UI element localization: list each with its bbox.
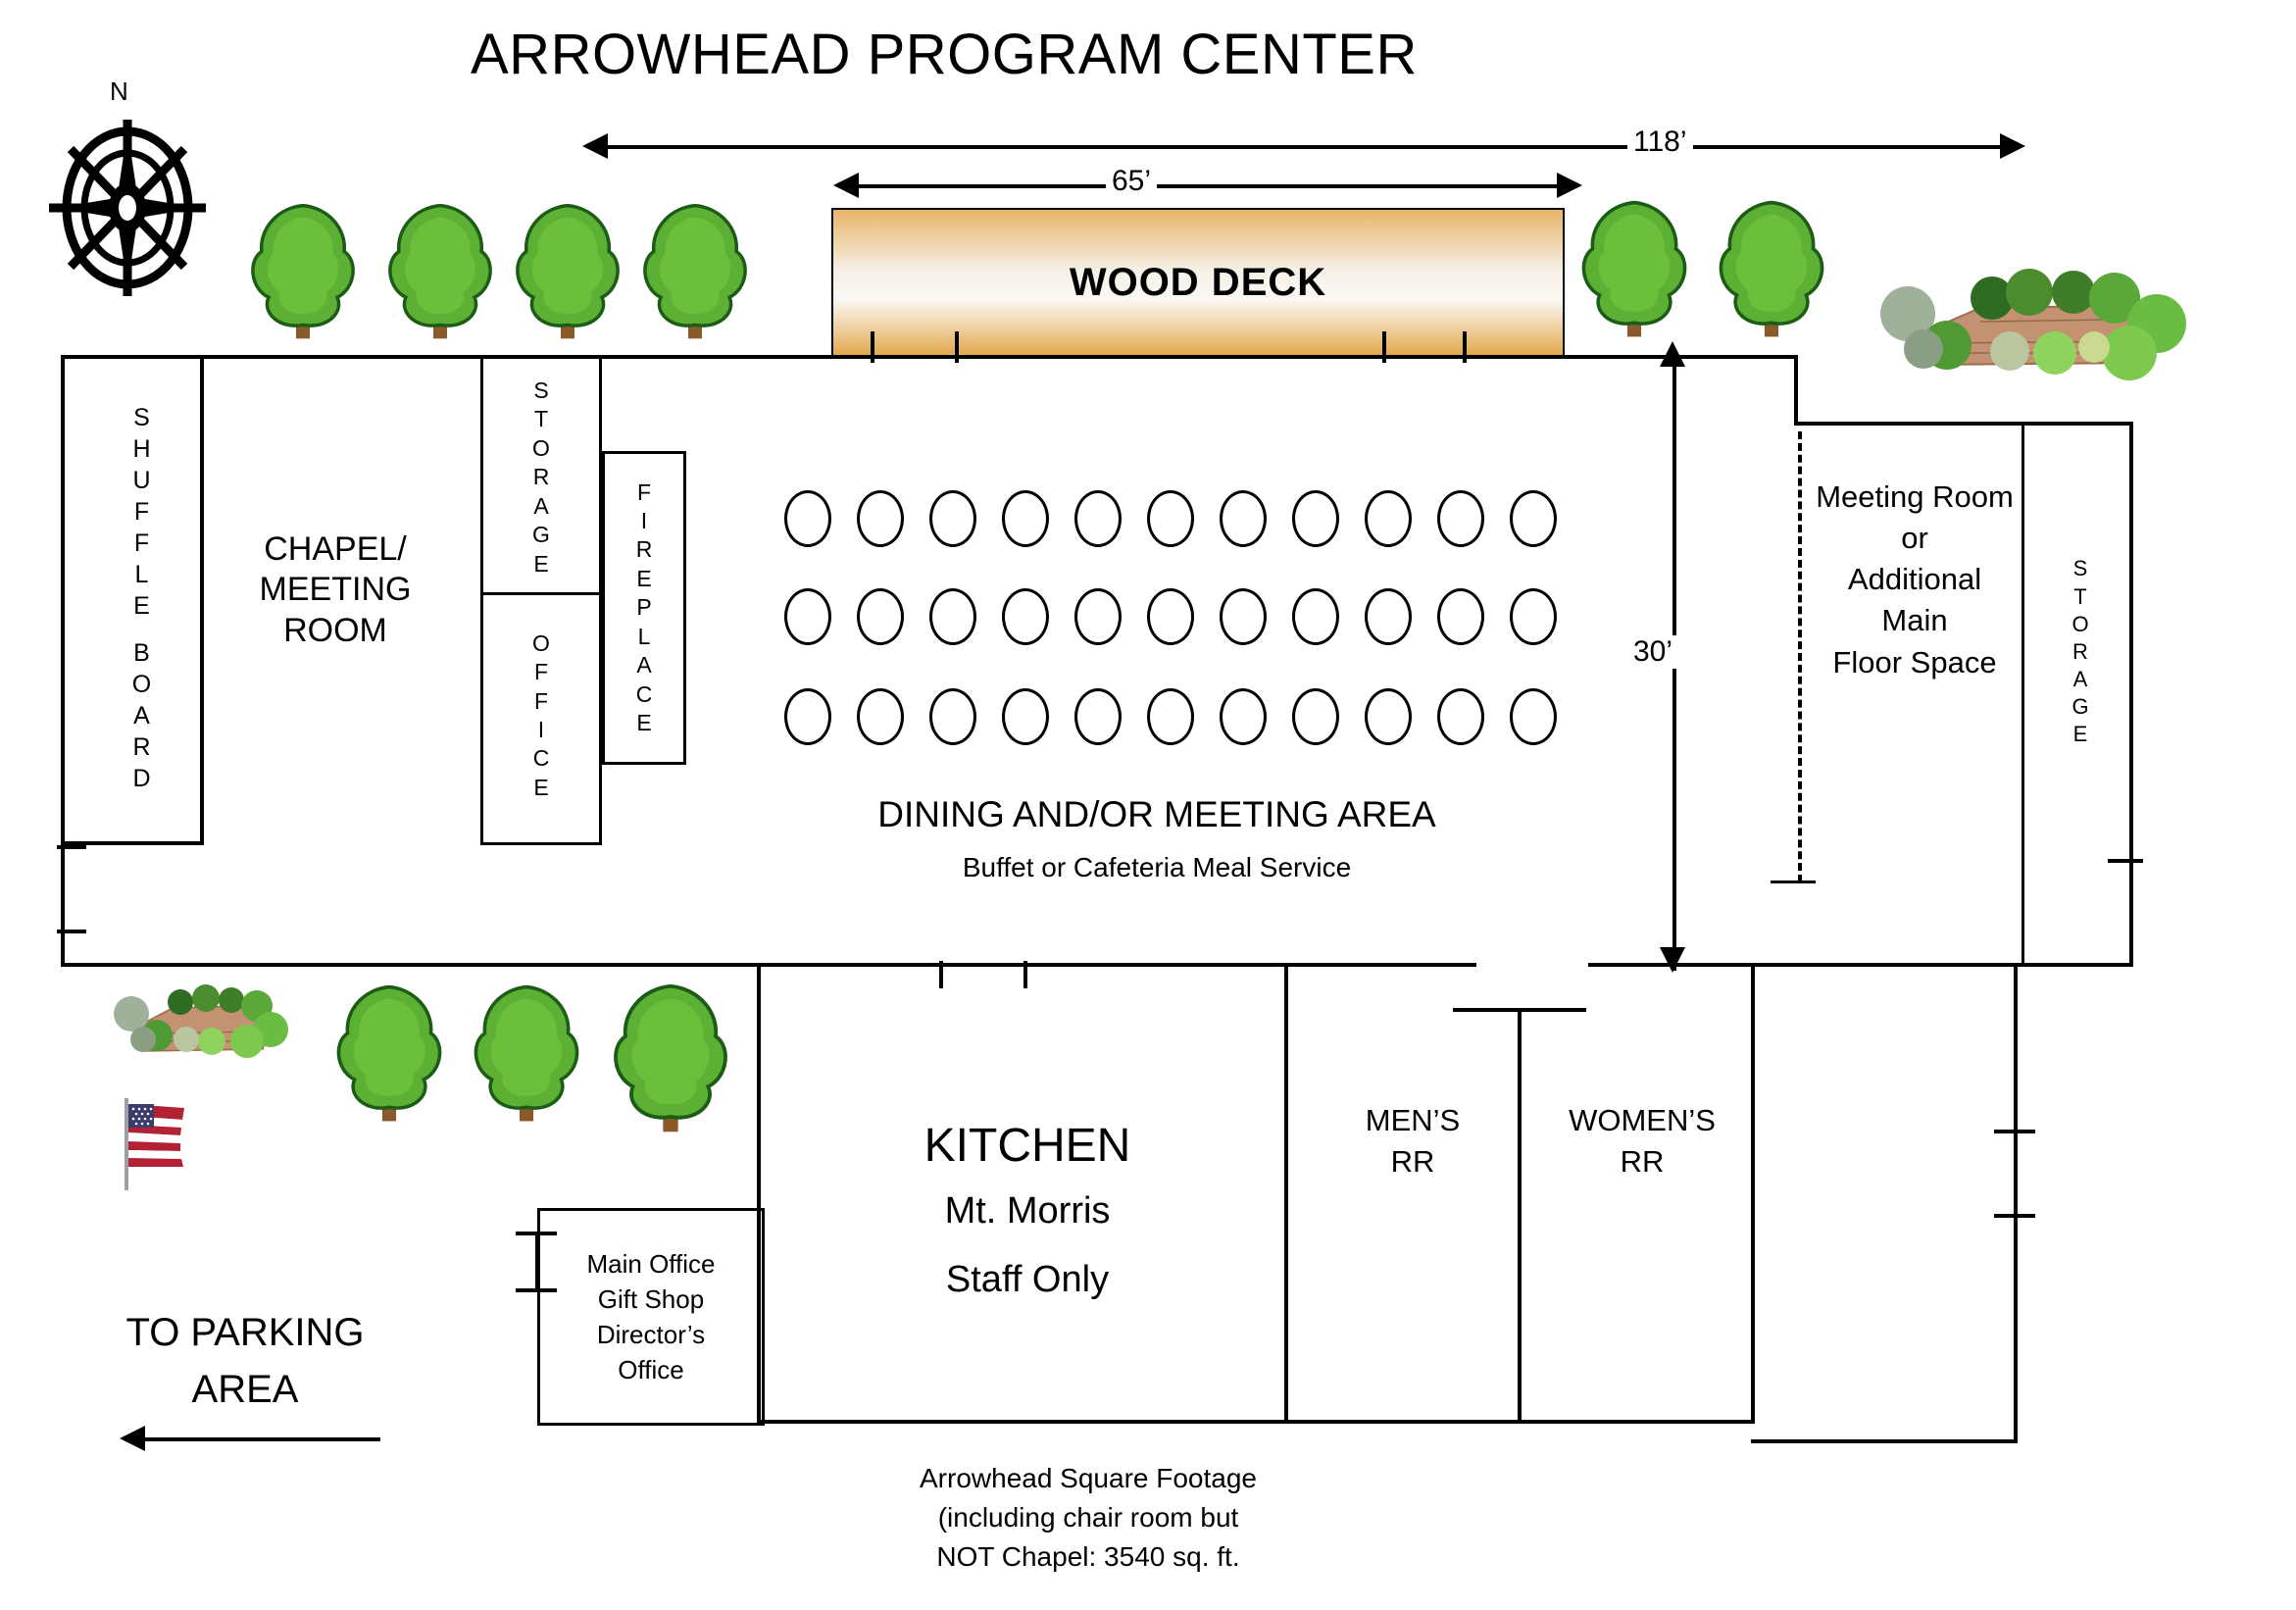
chapel-label: CHAPEL/ MEETING ROOM xyxy=(227,529,443,651)
kitchen-label: KITCHEN xyxy=(822,1118,1233,1176)
dining-table xyxy=(857,490,904,547)
compass-north-label: N xyxy=(110,76,128,107)
shrub-bed-icon xyxy=(108,981,284,1069)
dining-table xyxy=(1365,588,1412,645)
us-flag-icon xyxy=(120,1096,194,1190)
dining-table xyxy=(1002,588,1049,645)
lower-wing-bottom-wall xyxy=(757,1420,1755,1424)
dining-table xyxy=(1365,688,1412,745)
building-top-wall xyxy=(61,355,1798,359)
overall-width-label: 118’ xyxy=(1627,126,1693,159)
tree-icon xyxy=(1576,196,1692,343)
tree-icon xyxy=(1714,196,1829,343)
tree-icon xyxy=(382,201,498,343)
dining-table xyxy=(857,688,904,745)
tree-icon xyxy=(245,201,361,343)
dining-table xyxy=(1437,688,1484,745)
east-lower-right-wall xyxy=(2014,967,2018,1443)
door-tick xyxy=(955,331,959,363)
fireplace-label: FIREPLACE xyxy=(616,463,673,753)
dining-table xyxy=(1074,588,1122,645)
door-tick xyxy=(871,331,874,363)
restroom-divider-wall xyxy=(1518,1012,1522,1424)
meeting-room-right-label: Meeting Room or Additional Main Floor Sp… xyxy=(1812,477,2018,683)
dining-table xyxy=(1292,688,1339,745)
mens-rr-label: MEN’S RR xyxy=(1320,1100,1506,1182)
womens-rr-label: WOMEN’S RR xyxy=(1539,1100,1745,1182)
deck-dimension-arrow-left xyxy=(833,173,859,198)
deck-width-label: 65’ xyxy=(1106,165,1157,198)
tree-icon xyxy=(510,201,625,343)
overall-width-dimension-line xyxy=(608,145,2000,149)
door-tick xyxy=(57,930,86,933)
tree-icon xyxy=(469,981,584,1128)
tree-icon xyxy=(608,981,733,1137)
tree-icon xyxy=(331,981,447,1128)
building-bottom-wall-right xyxy=(1588,963,2133,967)
dining-area-label: DINING AND/OR MEETING AREA xyxy=(804,792,1510,836)
shuffleboard-label: SHUFFLE BOARD xyxy=(108,382,176,814)
to-parking-arrow-line xyxy=(145,1437,380,1441)
wood-deck: WOOD DECK xyxy=(831,208,1565,357)
door-tick xyxy=(1463,331,1467,363)
dimension-arrow-right xyxy=(2000,133,2025,159)
storage-office-divider xyxy=(480,592,602,595)
building-left-wall xyxy=(61,355,65,967)
dining-table xyxy=(1510,688,1557,745)
dining-table xyxy=(784,588,831,645)
restroom-entry-tick xyxy=(1453,1008,1586,1012)
door-tick xyxy=(2108,859,2143,863)
compass-rose-icon xyxy=(49,110,206,296)
east-lower-bottom-wall xyxy=(1751,1439,2018,1443)
to-parking-label: TO PARKING AREA xyxy=(98,1304,392,1418)
dining-table xyxy=(1437,588,1484,645)
kitchen-sublabel-2: Staff Only xyxy=(822,1257,1233,1302)
door-tick xyxy=(57,845,86,849)
restroom-right-wall xyxy=(1751,963,1755,1424)
shrub-bed-icon xyxy=(1863,263,2186,390)
dining-table xyxy=(1220,688,1267,745)
main-office-label: Main Office Gift Shop Director’s Office xyxy=(545,1247,757,1388)
kitchen-right-wall xyxy=(1284,963,1288,1424)
storage-right-label: STORAGE xyxy=(2051,529,2110,775)
deck-width-dimension-line xyxy=(859,184,1557,188)
storage-right-left-wall xyxy=(2021,422,2024,967)
depth-arrow-up xyxy=(1660,341,1685,367)
dining-table xyxy=(929,688,976,745)
meeting-room-partition xyxy=(1798,431,1802,882)
shuffleboard-right-wall xyxy=(200,355,204,845)
to-parking-arrow-head xyxy=(120,1426,145,1451)
storage-left-label: STORAGE xyxy=(504,371,578,584)
dining-table xyxy=(857,588,904,645)
dining-table xyxy=(929,490,976,547)
meeting-room-top-wall xyxy=(1794,422,2133,426)
door-tick xyxy=(1023,961,1027,988)
tree-icon xyxy=(637,201,753,343)
depth-arrow-down xyxy=(1660,947,1685,973)
dining-table xyxy=(1220,588,1267,645)
dining-table xyxy=(1147,588,1194,645)
door-tick xyxy=(1994,1130,2035,1133)
dining-table xyxy=(1510,588,1557,645)
dining-table xyxy=(1002,490,1049,547)
dining-table xyxy=(1147,688,1194,745)
dining-table xyxy=(1220,490,1267,547)
upper-band-right-wall xyxy=(1794,355,1798,426)
dining-table xyxy=(1074,490,1122,547)
dining-table xyxy=(1147,490,1194,547)
dining-table xyxy=(784,688,831,745)
building-right-wall xyxy=(2129,422,2133,967)
kitchen-sublabel-1: Mt. Morris xyxy=(822,1188,1233,1233)
deck-dimension-arrow-right xyxy=(1557,173,1582,198)
main-office-door-jamb xyxy=(535,1232,539,1292)
floor-plan-canvas: ARROWHEAD PROGRAM CENTER N 118’ 65’ xyxy=(0,0,2296,1610)
dining-table xyxy=(929,588,976,645)
dining-area-sublabel: Buffet or Cafeteria Meal Service xyxy=(804,851,1510,884)
dining-table xyxy=(1510,490,1557,547)
dimension-arrow-left xyxy=(582,133,608,159)
dining-table xyxy=(1074,688,1122,745)
dining-table xyxy=(784,490,831,547)
meeting-room-partition-end xyxy=(1771,880,1816,883)
door-tick xyxy=(939,961,943,988)
wood-deck-label: WOOD DECK xyxy=(1070,261,1326,305)
building-depth-label: 30’ xyxy=(1627,635,1678,669)
dining-table xyxy=(1437,490,1484,547)
dining-table xyxy=(1365,490,1412,547)
square-footage-note: Arrowhead Square Footage (including chai… xyxy=(843,1459,1333,1576)
dining-table xyxy=(1002,688,1049,745)
door-tick xyxy=(1382,331,1386,363)
office-left-label: OFFICE xyxy=(504,608,578,824)
building-bottom-wall-left xyxy=(61,963,1476,967)
dining-table xyxy=(1292,588,1339,645)
door-tick xyxy=(1994,1214,2035,1218)
dining-table xyxy=(1292,490,1339,547)
page-title: ARROWHEAD PROGRAM CENTER xyxy=(471,22,1418,87)
